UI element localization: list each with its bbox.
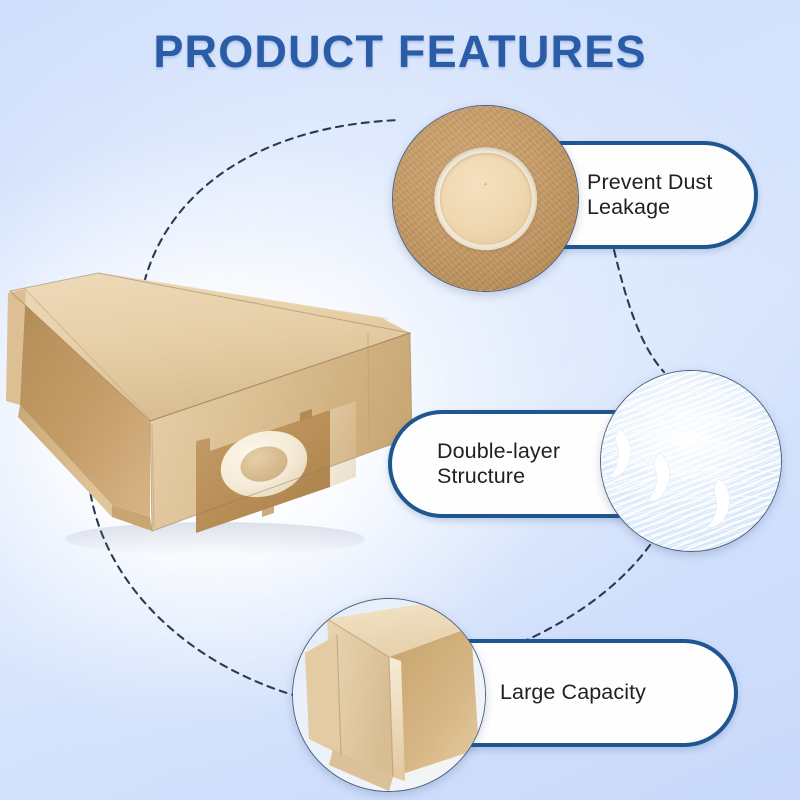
- feature-label-prevent-dust-leakage: Prevent Dust Leakage: [587, 170, 712, 220]
- infographic-canvas: PRODUCT FEATURES: [0, 0, 800, 800]
- open-bag-corner-illustration: [293, 599, 485, 791]
- feature-label-double-layer-structure: Double-layer Structure: [437, 439, 560, 489]
- feature-image-prevent-dust-leakage: [392, 105, 579, 292]
- connector-feature-1-to-feature-2: [614, 250, 664, 372]
- product-image-dust-bag: [0, 255, 420, 565]
- fiber-hook-shapes: [601, 371, 781, 551]
- feature-image-double-layer-structure: [600, 370, 782, 552]
- corner-left-gusset: [305, 635, 341, 755]
- feature-label-large-capacity: Large Capacity: [500, 680, 646, 705]
- product-shadow: [65, 522, 365, 556]
- bag-front-flap-overlay: [330, 401, 356, 487]
- feature-image-large-capacity: [292, 598, 486, 792]
